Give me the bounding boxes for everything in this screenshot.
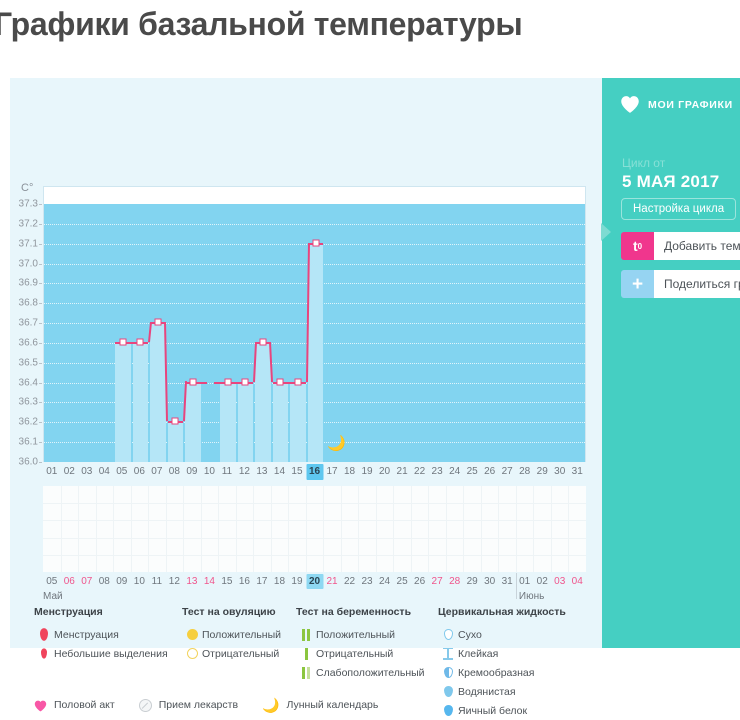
cycle-from-label: Цикл от (622, 156, 665, 170)
calendar-date-27[interactable]: 27 (429, 574, 446, 589)
cycle-day-19[interactable]: 19 (359, 464, 376, 480)
calendar-date-18[interactable]: 18 (271, 574, 288, 589)
legend-item: Положительный (182, 625, 281, 644)
symptom-grid[interactable] (43, 486, 586, 572)
thermometer-icon: t0 (621, 232, 654, 260)
drop-outline-icon (438, 629, 458, 640)
calendar-date-17[interactable]: 17 (253, 574, 270, 589)
y-axis-tick-label: 36.9 (19, 278, 38, 289)
share-chart-label: Поделиться гра (654, 270, 740, 298)
legend-column-title: Менструация (34, 606, 168, 618)
calendar-date-07[interactable]: 07 (78, 574, 95, 589)
y-axis-tick-label: 36.5 (19, 357, 38, 368)
y-axis-tick (39, 442, 42, 443)
y-axis-tick (39, 283, 42, 284)
temperature-point[interactable] (312, 239, 319, 246)
y-axis-tick-label: 36.3 (19, 397, 38, 408)
cycle-day-27[interactable]: 27 (499, 464, 516, 480)
temperature-chart-panel: C° 37.337.237.137.036.936.836.736.636.53… (10, 78, 592, 648)
page-title: Графики базальной температуры (0, 6, 522, 43)
blood-drop-icon (34, 629, 54, 640)
month-label-second: Июнь (519, 591, 544, 602)
legend-item: Отрицательный (296, 644, 425, 663)
cycle-day-16[interactable]: 16 (306, 464, 323, 480)
grid-column-line (498, 486, 499, 572)
calendar-date-24[interactable]: 24 (376, 574, 393, 589)
sidebar-pointer-icon (601, 223, 611, 241)
sidebar: МОИ ГРАФИКИ Цикл от 5 МАЯ 2017 Настройка… (602, 78, 740, 648)
degree-superscript: 0 (638, 242, 642, 251)
add-temperature-button[interactable]: t0 Добавить темп (621, 232, 740, 260)
gridline (44, 224, 585, 225)
month-separator (516, 573, 517, 599)
grid-column-line (428, 486, 429, 572)
legend-item: Положительный (296, 625, 425, 644)
grid-column-line (148, 486, 149, 572)
cycle-start-date: 5 МАЯ 2017 (622, 172, 719, 192)
cycle-day-15[interactable]: 15 (288, 464, 305, 480)
grid-column-line (236, 486, 237, 572)
calendar-date-02[interactable]: 02 (534, 574, 551, 589)
calendar-date-22[interactable]: 22 (341, 574, 358, 589)
grid-column-line (551, 486, 552, 572)
temperature-bar[interactable] (238, 383, 254, 462)
legend-bottom-row: Половой актПрием лекарств🌙Лунный календа… (34, 698, 378, 712)
cycle-day-12[interactable]: 12 (236, 464, 253, 480)
grid-column-line (288, 486, 289, 572)
cycle-day-29[interactable]: 29 (534, 464, 551, 480)
legend-item-label: Клейкая (458, 648, 498, 660)
cycle-day-18[interactable]: 18 (341, 464, 358, 480)
calendar-date-29[interactable]: 29 (464, 574, 481, 589)
y-axis-tick-label: 37.1 (19, 238, 38, 249)
grid-column-line (516, 486, 517, 572)
temperature-point[interactable] (224, 378, 231, 385)
cycle-day-26[interactable]: 26 (481, 464, 498, 480)
legend-item: Менструация (34, 625, 168, 644)
legend-item-label: Прием лекарств (159, 699, 238, 711)
grid-column-line (323, 486, 324, 572)
temperature-point[interactable] (242, 378, 249, 385)
circle-hollow-icon (182, 648, 202, 659)
legend-item-label: Отрицательный (202, 648, 279, 660)
temperature-bar[interactable] (255, 343, 271, 462)
legend-item: Сухо (438, 625, 566, 644)
calendar-date-06[interactable]: 06 (61, 574, 78, 589)
grid-column-line (96, 486, 97, 572)
legend-item-label: Положительный (202, 629, 281, 641)
calendar-date-10[interactable]: 10 (131, 574, 148, 589)
grid-column-line (183, 486, 184, 572)
cycle-day-28[interactable]: 28 (516, 464, 533, 480)
calendar-date-28[interactable]: 28 (446, 574, 463, 589)
temperature-bar[interactable] (115, 343, 131, 462)
temperature-line-segment (236, 382, 238, 384)
y-axis-tick-label: 36.6 (19, 337, 38, 348)
cycle-day-20[interactable]: 20 (376, 464, 393, 480)
temperature-line-segment (131, 342, 133, 344)
legend-item: Небольшие выделения (34, 644, 168, 663)
cycle-day-22[interactable]: 22 (411, 464, 428, 480)
y-axis-tick-label: 36.1 (19, 437, 38, 448)
y-axis-tick-label: 36.0 (19, 457, 38, 468)
calendar-date-31[interactable]: 31 (499, 574, 516, 589)
calendar-date-05[interactable]: 05 (43, 574, 60, 589)
grid-column-line (446, 486, 447, 572)
calendar-date-01[interactable]: 01 (516, 574, 533, 589)
y-axis-tick (39, 204, 42, 205)
temperature-bar[interactable] (150, 323, 166, 462)
cycle-day-13[interactable]: 13 (253, 464, 270, 480)
y-axis-tick-label: 36.8 (19, 298, 38, 309)
calendar-date-12[interactable]: 12 (166, 574, 183, 589)
grid-column-line (271, 486, 272, 572)
y-axis-tick (39, 244, 42, 245)
pill-icon (139, 699, 152, 712)
temperature-point[interactable] (154, 319, 161, 326)
grid-column-line (166, 486, 167, 572)
y-axis-tick-label: 36.4 (19, 377, 38, 388)
heart-pink-icon (34, 699, 47, 711)
circle-filled-icon (182, 629, 202, 640)
y-axis-tick (39, 402, 42, 403)
legend-item-label: Отрицательный (316, 648, 393, 660)
plot-header-strip (43, 186, 586, 204)
legend-column: Тест на овуляциюПоложительныйОтрицательн… (182, 606, 281, 663)
legend-item-label: Небольшие выделения (54, 648, 168, 660)
sticky-icon (438, 648, 458, 660)
grid-column-line (358, 486, 359, 572)
grid-column-line (533, 486, 534, 572)
legend-column: Тест на беременностьПоложительныйОтрицат… (296, 606, 425, 682)
legend-item-label: Сухо (458, 629, 482, 641)
cycle-day-23[interactable]: 23 (429, 464, 446, 480)
calendar-date-15[interactable]: 15 (218, 574, 235, 589)
calendar-date-21[interactable]: 21 (324, 574, 341, 589)
y-axis-tick-label: 37.3 (19, 199, 38, 210)
two-bars-pale-icon (296, 667, 316, 679)
y-axis-tick (39, 383, 42, 384)
temperature-point[interactable] (119, 338, 126, 345)
missing-data-connector (201, 382, 221, 384)
calendar-date-04[interactable]: 04 (569, 574, 586, 589)
legend-item: Половой акт (34, 699, 115, 711)
sidebar-header-label: МОИ ГРАФИКИ (648, 99, 733, 111)
calendar-date-03[interactable]: 03 (551, 574, 568, 589)
grid-column-line (376, 486, 377, 572)
legend-item: Кремообразная (438, 663, 566, 682)
y-axis-tick (39, 264, 42, 265)
grid-column-line (113, 486, 114, 572)
cycle-day-24[interactable]: 24 (446, 464, 463, 480)
legend-item: 🌙Лунный календарь (262, 698, 378, 712)
cycle-day-02[interactable]: 02 (61, 464, 78, 480)
temperature-plot-wrapper: C° 37.337.237.137.036.936.836.736.636.53… (10, 78, 592, 488)
share-chart-button[interactable]: + Поделиться гра (621, 270, 740, 298)
legend-item-label: Яичный белок (458, 705, 527, 717)
add-temperature-label: Добавить темп (654, 232, 740, 260)
cycle-settings-button[interactable]: Настройка цикла (621, 198, 736, 220)
calendar-date-19[interactable]: 19 (288, 574, 305, 589)
legend-item-label: Кремообразная (458, 667, 534, 679)
moon-icon[interactable]: 🌙 (327, 436, 346, 451)
calendar-date-13[interactable]: 13 (183, 574, 200, 589)
grid-column-line (61, 486, 62, 572)
calendar-date-11[interactable]: 11 (148, 574, 165, 589)
y-axis-tick-label: 37.0 (19, 258, 38, 269)
temperature-line-segment (288, 382, 290, 384)
one-bar-icon (296, 648, 316, 660)
two-bars-icon (296, 629, 316, 641)
y-axis-tick-label: 37.2 (19, 218, 38, 229)
grid-column-line (78, 486, 79, 572)
legend-item-label: Положительный (316, 629, 395, 641)
legend-item: Прием лекарств (139, 699, 238, 712)
y-axis-tick-label: 36.7 (19, 318, 38, 329)
y-axis: 37.337.237.137.036.936.836.736.636.536.4… (10, 78, 43, 488)
plot-area[interactable]: 🌙 (43, 204, 586, 462)
temperature-point[interactable] (277, 378, 284, 385)
y-axis-tick (39, 303, 42, 304)
y-axis-tick (39, 462, 42, 463)
blood-drop-small-icon (34, 649, 54, 658)
calendar-date-23[interactable]: 23 (359, 574, 376, 589)
temperature-point[interactable] (294, 378, 301, 385)
grid-column-line (568, 486, 569, 572)
legend-item: Водянистая (438, 682, 566, 701)
grid-row-line (43, 555, 586, 556)
temperature-bar[interactable] (290, 383, 306, 462)
heart-icon (620, 95, 640, 114)
calendar-date-09[interactable]: 09 (113, 574, 130, 589)
legend-item: Яичный белок (438, 701, 566, 720)
legend-item-label: Слабоположительный (316, 667, 425, 679)
cycle-day-07[interactable]: 07 (148, 464, 165, 480)
legend-item-label: Лунный календарь (286, 699, 378, 711)
moon-icon: 🌙 (262, 698, 279, 712)
calendar-date-20[interactable]: 20 (306, 574, 323, 589)
legend-column: Цервикальная жидкостьСухоКлейкаяКремообр… (438, 606, 566, 720)
legend-item: Клейкая (438, 644, 566, 663)
cycle-day-04[interactable]: 04 (96, 464, 113, 480)
drop-half-icon (438, 667, 458, 678)
temperature-point[interactable] (172, 418, 179, 425)
grid-column-line (131, 486, 132, 572)
month-label-first: Май (43, 591, 63, 602)
grid-column-line (218, 486, 219, 572)
legend-item-label: Водянистая (458, 686, 516, 698)
temperature-point[interactable] (259, 338, 266, 345)
cycle-day-21[interactable]: 21 (394, 464, 411, 480)
calendar-date-25[interactable]: 25 (394, 574, 411, 589)
sidebar-header[interactable]: МОИ ГРАФИКИ (620, 95, 733, 114)
grid-column-line (393, 486, 394, 572)
grid-row-line (43, 503, 586, 504)
cycle-day-09[interactable]: 09 (183, 464, 200, 480)
grid-column-line (463, 486, 464, 572)
temperature-bar[interactable] (273, 383, 289, 462)
plus-icon: + (621, 270, 654, 298)
temperature-bar[interactable] (185, 383, 201, 462)
cycle-day-17[interactable]: 17 (324, 464, 341, 480)
cycle-day-axis[interactable]: 0102030405060708091011121314151617181920… (43, 464, 586, 484)
y-axis-tick (39, 363, 42, 364)
calendar-date-axis[interactable]: Май 050607080910111213141516171819202122… (43, 574, 586, 604)
grid-column-line (411, 486, 412, 572)
grid-row-line (43, 538, 586, 539)
temperature-point[interactable] (137, 338, 144, 345)
chart-card: C° 37.337.237.137.036.936.836.736.636.53… (10, 78, 740, 648)
legend-column: МенструацияМенструацияНебольшие выделени… (34, 606, 168, 663)
legend-item: Отрицательный (182, 644, 281, 663)
calendar-date-26[interactable]: 26 (411, 574, 428, 589)
grid-column-line (201, 486, 202, 572)
drop-full-icon (438, 705, 458, 716)
temperature-bar[interactable] (168, 422, 184, 462)
calendar-date-08[interactable]: 08 (96, 574, 113, 589)
y-axis-tick-label: 36.2 (19, 417, 38, 428)
calendar-date-30[interactable]: 30 (481, 574, 498, 589)
grid-column-line (253, 486, 254, 572)
legend-column-title: Тест на овуляцию (182, 606, 281, 618)
temperature-bar[interactable] (308, 244, 324, 462)
cycle-day-05[interactable]: 05 (113, 464, 130, 480)
y-axis-tick (39, 224, 42, 225)
cycle-day-08[interactable]: 08 (166, 464, 183, 480)
legend-item-label: Менструация (54, 629, 119, 641)
grid-column-line (341, 486, 342, 572)
calendar-date-14[interactable]: 14 (201, 574, 218, 589)
cycle-day-11[interactable]: 11 (218, 464, 235, 480)
y-axis-tick (39, 343, 42, 344)
cycle-day-25[interactable]: 25 (464, 464, 481, 480)
cycle-day-01[interactable]: 01 (43, 464, 60, 480)
grid-column-line (306, 486, 307, 572)
cycle-day-06[interactable]: 06 (131, 464, 148, 480)
y-axis-tick (39, 323, 42, 324)
legend-column-title: Тест на беременность (296, 606, 425, 618)
temperature-bar[interactable] (133, 343, 149, 462)
calendar-date-16[interactable]: 16 (236, 574, 253, 589)
drop-mid-icon (438, 686, 458, 697)
y-axis-tick (39, 422, 42, 423)
legend-item-label: Половой акт (54, 699, 115, 711)
legend-column-title: Цервикальная жидкость (438, 606, 566, 618)
grid-column-line (481, 486, 482, 572)
cycle-day-31[interactable]: 31 (569, 464, 586, 480)
temperature-bar[interactable] (220, 383, 236, 462)
legend-item: Слабоположительный (296, 663, 425, 682)
cycle-day-10[interactable]: 10 (201, 464, 218, 480)
temperature-point[interactable] (189, 378, 196, 385)
cycle-day-03[interactable]: 03 (78, 464, 95, 480)
cycle-day-14[interactable]: 14 (271, 464, 288, 480)
grid-row-line (43, 520, 586, 521)
cycle-day-30[interactable]: 30 (551, 464, 568, 480)
